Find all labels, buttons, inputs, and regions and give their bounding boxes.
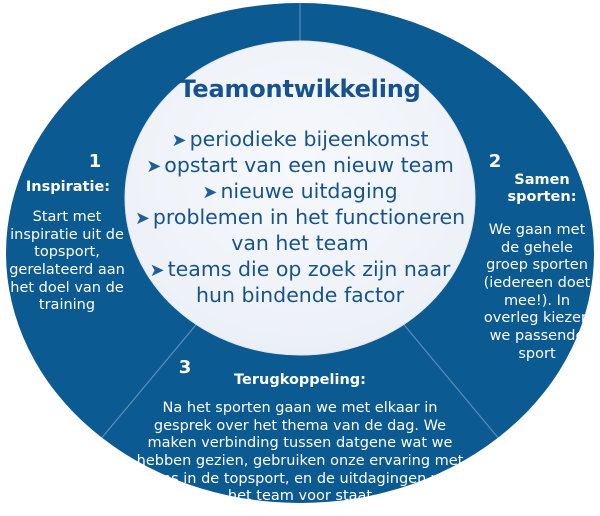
core-ellipse (125, 41, 475, 355)
team-development-circle-diagram: Teamontwikkeling ➤periodieke bijeenkomst… (0, 0, 600, 516)
diagram-shapes (0, 0, 600, 516)
